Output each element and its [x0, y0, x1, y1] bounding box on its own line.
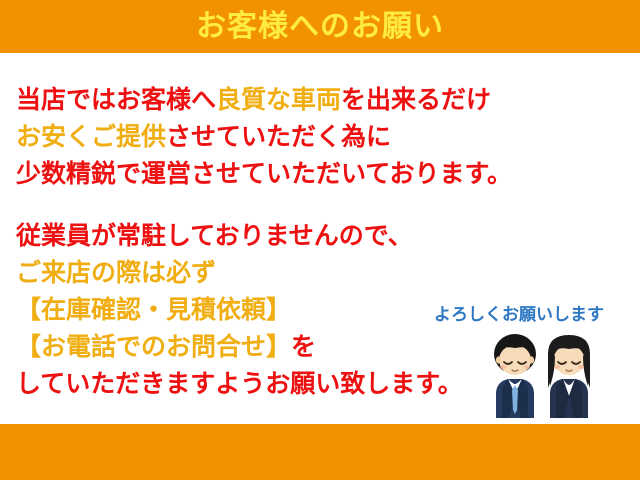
message-segment: 従業員が常駐しておりませんので、 [16, 221, 413, 250]
greeting-text: よろしくお願いします [434, 300, 604, 325]
bowing-businessman-icon [490, 332, 540, 418]
message-segment: を出来るだけ [341, 85, 491, 114]
message-segment-highlight: 【在庫確認・見積依頼】 [16, 295, 291, 324]
message-segment: させていただく為に [166, 122, 391, 151]
message-line: お安くご提供させていただく為に [16, 118, 616, 155]
message-segment: 少数精鋭で運営させていただいております。 [16, 159, 512, 188]
page-title: お客様へのお願い [0, 0, 640, 53]
message-line: 少数精鋭で運営させていただいております。 [16, 155, 616, 192]
paragraph-spacer [16, 192, 616, 217]
message-segment-highlight: 【お電話でのお問合せ】 [16, 332, 291, 361]
message-segment: していただきますようお願い致します。 [16, 369, 463, 398]
bowing-people-illustration [490, 332, 596, 418]
message-line: ご来店の際は必ず [16, 254, 616, 291]
message-segment-highlight: 良質な車両 [216, 85, 341, 114]
message-segment-highlight: お安くご提供 [16, 122, 166, 151]
bowing-businesswoman-icon [544, 332, 594, 418]
advertisement-banner: お客様へのお願い 当店ではお客様へ良質な車両を出来るだけ お安くご提供させていた… [0, 0, 640, 480]
message-segment: を [291, 332, 316, 361]
message-line: 従業員が常駐しておりませんので、 [16, 217, 616, 254]
message-segment-highlight: ご来店の際は必ず [16, 258, 216, 287]
header-band: お客様へのお願い [0, 0, 640, 53]
message-line: 当店ではお客様へ良質な車両を出来るだけ [16, 81, 616, 118]
footer-band: オートライ ® TEL:025-256-8198 [0, 424, 640, 480]
message-segment: 当店ではお客様へ [16, 85, 216, 114]
